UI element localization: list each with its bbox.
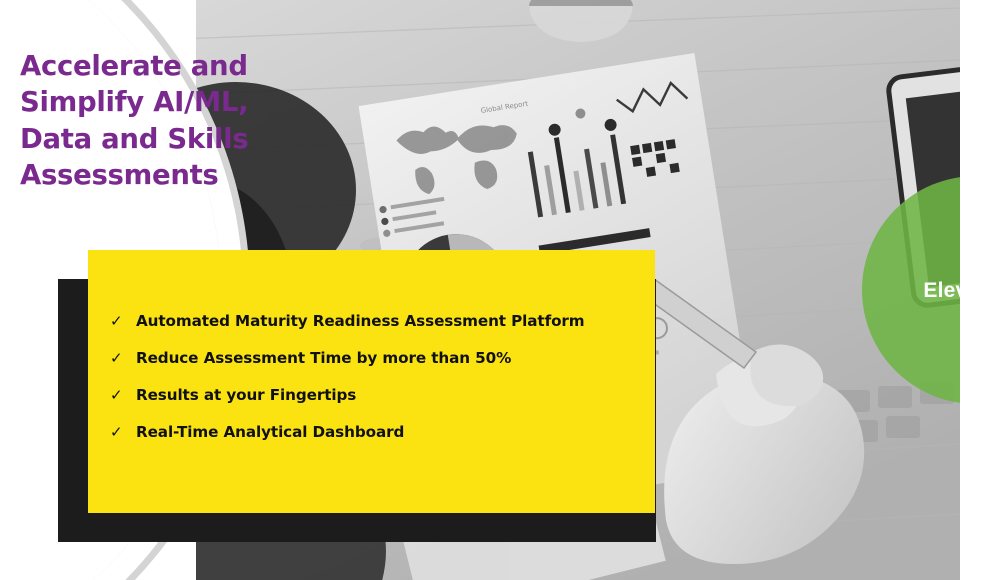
feature-label: Results at your Fingertips <box>136 386 356 404</box>
page-title: Accelerate and Simplify AI/ML, Data and … <box>20 48 290 193</box>
list-item: ✓ Reduce Assessment Time by more than 50… <box>110 349 655 367</box>
feature-label: Reduce Assessment Time by more than 50% <box>136 349 511 367</box>
feature-label: Automated Maturity Readiness Assessment … <box>136 312 585 330</box>
badge-clip: ElevateX <box>820 0 960 580</box>
list-item: ✓ Results at your Fingertips <box>110 386 655 404</box>
feature-label: Real-Time Analytical Dashboard <box>136 423 404 441</box>
right-gutter <box>960 0 1000 580</box>
feature-list: ✓ Automated Maturity Readiness Assessmen… <box>110 312 655 441</box>
check-icon: ✓ <box>110 351 136 366</box>
headline-line-2: Simplify AI/ML, <box>20 84 290 120</box>
features-panel: ✓ Automated Maturity Readiness Assessmen… <box>88 250 655 513</box>
check-icon: ✓ <box>110 425 136 440</box>
headline-line-3: Data and Skills <box>20 121 290 157</box>
elevatex-badge-label: ElevateX <box>923 279 960 303</box>
elevatex-badge[interactable]: ElevateX <box>862 176 960 404</box>
headline-line-1: Accelerate and <box>20 48 290 84</box>
list-item: ✓ Automated Maturity Readiness Assessmen… <box>110 312 655 330</box>
check-icon: ✓ <box>110 388 136 403</box>
list-item: ✓ Real-Time Analytical Dashboard <box>110 423 655 441</box>
check-icon: ✓ <box>110 314 136 329</box>
promo-banner: Global Report <box>0 0 1000 580</box>
headline-line-4: Assessments <box>20 157 290 193</box>
